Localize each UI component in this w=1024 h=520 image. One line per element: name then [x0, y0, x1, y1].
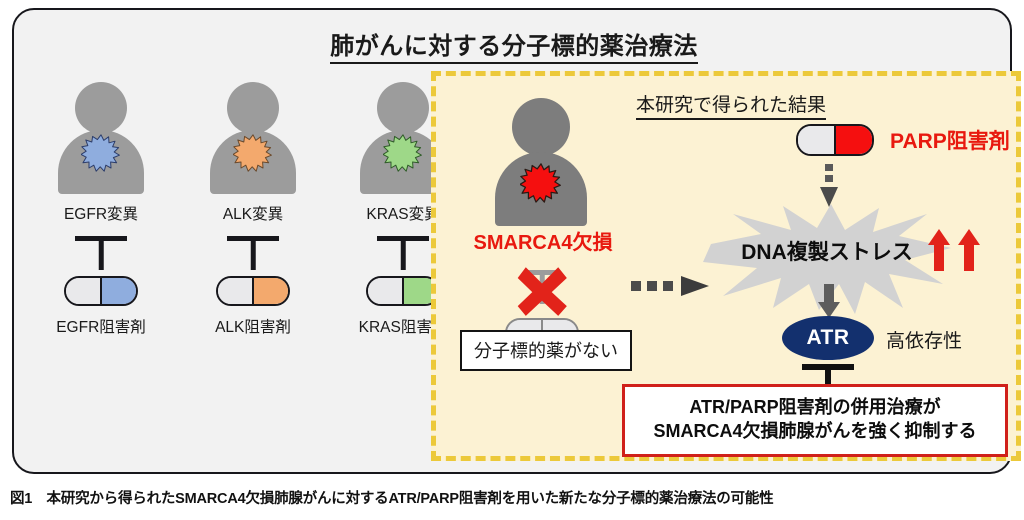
drug-pill-icon: [64, 276, 138, 306]
inhibition-symbol: [75, 236, 127, 270]
atr-node-label: ATR: [806, 326, 849, 350]
tumor-burst-icon: [383, 134, 423, 174]
pill-divider: [402, 278, 404, 304]
drug-pill-icon-parp: [796, 124, 874, 156]
tumor-burst-icon: [233, 134, 273, 174]
patient-head: [377, 82, 429, 134]
drug-pill-icon: [366, 276, 440, 306]
pill-divider: [252, 278, 254, 304]
pill-right-half: [835, 126, 872, 154]
inhibition-symbol: [227, 236, 279, 270]
patient-icon: [207, 82, 299, 194]
drug-label: ALK阻害剤: [178, 315, 328, 337]
figure-root: 肺がんに対する分子標的薬治療法 EGFR変異 EGFR阻害剤: [0, 0, 1024, 520]
conclusion-box: ATR/PARP阻害剤の併用治療が SMARCA4欠損肺腺がんを強く抑制する: [622, 384, 1008, 457]
red-cross-icon: [515, 264, 569, 318]
smarca4-label: SMARCA4欠損: [448, 226, 638, 255]
dotted-arrow-down-icon: [819, 164, 839, 208]
figure-caption: 図1 本研究から得られたSMARCA4欠損肺腺がんに対するATR/PARP阻害剤…: [10, 487, 1020, 508]
pill-left-half: [218, 278, 253, 304]
mutation-column-alk: ALK変異 ALK阻害剤: [178, 82, 328, 337]
arrow-down-icon: [818, 284, 840, 318]
pill-right-half: [253, 278, 288, 304]
inhibition-stem: [251, 236, 256, 270]
pill-divider: [100, 278, 102, 304]
patient-head: [227, 82, 279, 134]
conclusion-line-1: ATR/PARP阻害剤の併用治療が: [635, 395, 995, 419]
study-panel-title-text: 本研究で得られた結果: [636, 95, 826, 120]
mutation-column-egfr: EGFR変異 EGFR阻害剤: [26, 82, 176, 337]
pill-left-half: [798, 126, 835, 154]
atr-dependency-label: 高依存性: [886, 326, 962, 353]
patient-head: [512, 98, 570, 156]
parp-drug-group: PARP阻害剤: [796, 124, 1010, 156]
drug-label: EGFR阻害剤: [26, 315, 176, 337]
inhibition-symbol: [377, 236, 429, 270]
conclusion-line-2: SMARCA4欠損肺腺がんを強く抑制する: [635, 419, 995, 443]
patient-head: [75, 82, 127, 134]
drug-pill-icon: [216, 276, 290, 306]
page-title: 肺がんに対する分子標的薬治療法: [14, 26, 1014, 61]
patient-icon: [55, 82, 147, 194]
pill-right-half: [101, 278, 136, 304]
no-drug-callout: 分子標的薬がない: [460, 330, 632, 371]
increase-arrows-icon: [928, 229, 980, 271]
tumor-burst-icon: [81, 134, 121, 174]
study-results-panel: 本研究で得られた結果 SMARCA4欠損: [431, 71, 1021, 461]
diagram-frame: 肺がんに対する分子標的薬治療法 EGFR変異 EGFR阻害剤: [12, 8, 1012, 474]
page-title-text: 肺がんに対する分子標的薬治療法: [330, 33, 698, 64]
tumor-burst-icon: [520, 163, 562, 205]
inhibition-stem: [401, 236, 406, 270]
pill-left-half: [66, 278, 101, 304]
smarca4-patient-icon: [491, 98, 591, 226]
pill-divider: [834, 126, 836, 154]
pill-left-half: [368, 278, 403, 304]
mutation-label: EGFR変異: [26, 202, 176, 224]
inhibition-stem: [99, 236, 104, 270]
dna-replication-stress-label: DNA複製ストレス: [699, 236, 955, 266]
mutation-label: ALK変異: [178, 202, 328, 224]
atr-node: ATR: [782, 316, 874, 360]
parp-drug-label: PARP阻害剤: [890, 125, 1010, 155]
no-drug-callout-text: 分子標的薬がない: [474, 341, 618, 361]
